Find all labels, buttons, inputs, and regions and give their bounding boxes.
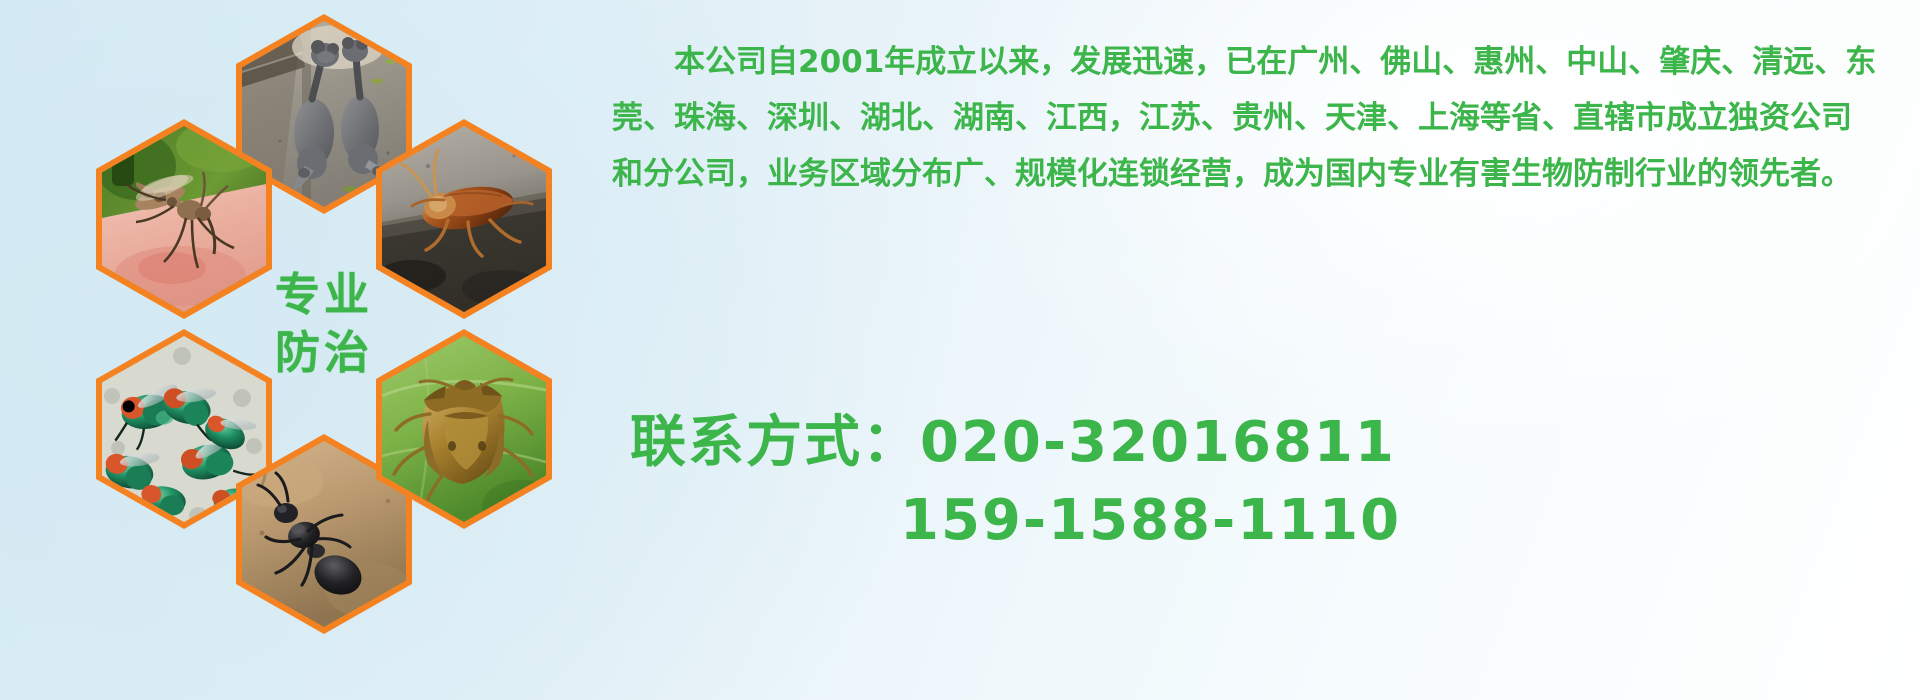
phone-landline[interactable]: 020-32016811 (920, 410, 1396, 475)
center-slogan-line2: 防治 (275, 324, 373, 382)
center-slogan: 专业 防治 (275, 266, 373, 381)
center-slogan-line1: 专业 (275, 266, 373, 324)
promo-banner: 专业 防治 (0, 0, 1920, 700)
contact-label: 联系方式： (630, 410, 920, 475)
hexagon-photo-cluster: 专业 防治 (96, 14, 596, 574)
intro-paragraph: 本公司自2001年成立以来，发展迅速，已在广州、佛山、惠州、中山、肇庆、清远、东… (612, 34, 1880, 202)
contact-block: 联系方式：020-32016811 159-1588-1110 (612, 404, 1912, 560)
contact-line-mobile[interactable]: 159-1588-1110 (612, 482, 1912, 560)
contact-line-landline[interactable]: 联系方式：020-32016811 (612, 404, 1912, 482)
copy-block: 本公司自2001年成立以来，发展迅速，已在广州、佛山、惠州、中山、肇庆、清远、东… (612, 34, 1892, 202)
stinkbug-photo (382, 336, 546, 522)
phone-mobile[interactable]: 159-1588-1110 (900, 488, 1401, 553)
